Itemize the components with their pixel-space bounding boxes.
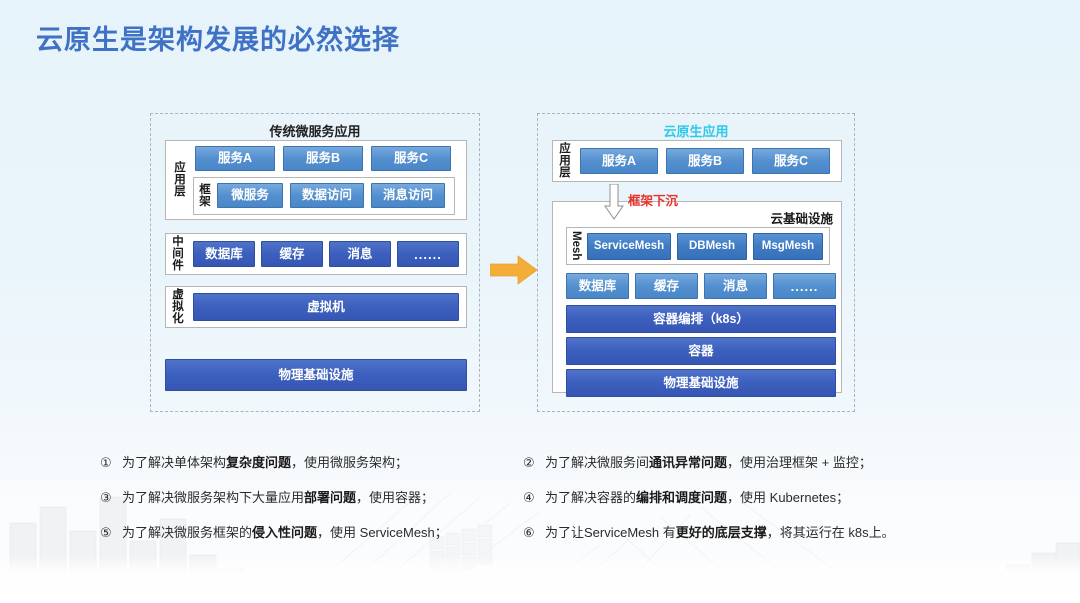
middleware-label: 中 间 件 bbox=[169, 238, 187, 272]
cloud-database-cell[interactable]: 数据库 bbox=[566, 273, 629, 299]
virtualization-label-char-2: 化 bbox=[172, 314, 184, 326]
virtual-machine-cell[interactable]: 虚拟机 bbox=[193, 293, 459, 321]
cloud-service-a-cell[interactable]: 服务A bbox=[580, 148, 658, 174]
right-panel-title: 云原生应用 bbox=[538, 121, 854, 140]
app-layer-label-char-2: 层 bbox=[174, 187, 186, 199]
page-title: 云原生是架构发展的必然选择 bbox=[36, 18, 400, 57]
service-b-cell[interactable]: 服务B bbox=[283, 146, 363, 171]
bullet-number: ⑥ bbox=[523, 525, 545, 541]
message-cell[interactable]: 消息 bbox=[329, 241, 391, 267]
bullet-item: ① 为了解决单体架构复杂度问题，使用微服务架构； bbox=[100, 452, 530, 471]
bullet-text: 为了解决微服务架构下大量应用部署问题，使用容器； bbox=[122, 487, 434, 506]
bullet-number: ① bbox=[100, 455, 122, 471]
virtualization-group: 虚 拟 化 虚拟机 bbox=[165, 286, 467, 328]
servicemesh-cell[interactable]: ServiceMesh bbox=[587, 233, 671, 260]
framework-sink-note: 框架下沉 bbox=[628, 190, 678, 209]
cloud-cache-cell[interactable]: 缓存 bbox=[635, 273, 698, 299]
dbmesh-cell[interactable]: DBMesh bbox=[677, 233, 747, 260]
bullet-number: ⑤ bbox=[100, 525, 122, 541]
container-bar[interactable]: 容器 bbox=[566, 337, 836, 365]
bullets-left-column: ① 为了解决单体架构复杂度问题，使用微服务架构； ③ 为了解决微服务架构下大量应… bbox=[100, 452, 530, 557]
middleware-group: 中 间 件 数据库 缓存 消息 ...... bbox=[165, 233, 467, 275]
cloud-more-cell[interactable]: ...... bbox=[773, 273, 836, 299]
right-physical-infrastructure-bar[interactable]: 物理基础设施 bbox=[566, 369, 836, 397]
framework-label-char-1: 架 bbox=[199, 197, 211, 209]
database-cell[interactable]: 数据库 bbox=[193, 241, 255, 267]
left-panel-title: 传统微服务应用 bbox=[151, 121, 479, 140]
bullet-number: ② bbox=[523, 455, 545, 471]
bullet-text: 为了解决单体架构复杂度问题，使用微服务架构； bbox=[122, 452, 408, 471]
transition-arrow-icon bbox=[490, 254, 538, 286]
message-access-cell[interactable]: 消息访问 bbox=[371, 183, 445, 208]
cloud-app-layer-group: 应 用 层 服务A 服务B 服务C bbox=[552, 140, 842, 182]
data-access-cell[interactable]: 数据访问 bbox=[290, 183, 364, 208]
mesh-group: Mesh ServiceMesh DBMesh MsgMesh bbox=[566, 227, 830, 265]
cloud-infrastructure-label: 云基础设施 bbox=[770, 208, 833, 227]
msgmesh-cell[interactable]: MsgMesh bbox=[753, 233, 823, 260]
cloud-infrastructure-group: 云基础设施 Mesh ServiceMesh DBMesh MsgMesh 数据… bbox=[552, 201, 842, 393]
framework-sink-arrow-icon bbox=[604, 184, 624, 220]
bullet-text: 为了解决微服务间通讯异常问题，使用治理框架 + 监控； bbox=[545, 452, 872, 471]
slide-canvas: 云原生是架构发展的必然选择 传统微服务应用 应 用 层 服务A 服务B 服务C … bbox=[0, 0, 1080, 603]
bullet-item: ⑥ 为了让ServiceMesh 有更好的底层支撑，将其运行在 k8s上。 bbox=[523, 522, 973, 541]
cloud-app-layer-label-char-2: 层 bbox=[559, 168, 571, 180]
microservice-cell[interactable]: 微服务 bbox=[217, 183, 283, 208]
bullet-number: ③ bbox=[100, 490, 122, 506]
cloud-service-c-cell[interactable]: 服务C bbox=[752, 148, 830, 174]
container-orchestration-bar[interactable]: 容器编排（k8s） bbox=[566, 305, 836, 333]
left-physical-infrastructure-bar[interactable]: 物理基础设施 bbox=[165, 359, 467, 391]
bullet-text: 为了解决容器的编排和调度问题，使用 Kubernetes； bbox=[545, 487, 849, 506]
framework-label: 框 架 bbox=[197, 183, 213, 211]
cloud-native-panel: 云原生应用 应 用 层 服务A 服务B 服务C 云基础设施 Mesh Servi… bbox=[537, 113, 855, 412]
bullet-item: ② 为了解决微服务间通讯异常问题，使用治理框架 + 监控； bbox=[523, 452, 973, 471]
bullets-right-column: ② 为了解决微服务间通讯异常问题，使用治理框架 + 监控； ④ 为了解决容器的编… bbox=[523, 452, 973, 557]
more-cell[interactable]: ...... bbox=[397, 241, 459, 267]
cloud-service-b-cell[interactable]: 服务B bbox=[666, 148, 744, 174]
framework-group: 框 架 微服务 数据访问 消息访问 bbox=[193, 177, 455, 215]
bullet-item: ⑤ 为了解决微服务框架的侵入性问题，使用 ServiceMesh； bbox=[100, 522, 530, 541]
bullet-item: ④ 为了解决容器的编排和调度问题，使用 Kubernetes； bbox=[523, 487, 973, 506]
cloud-message-cell[interactable]: 消息 bbox=[704, 273, 767, 299]
cloud-app-layer-label: 应 用 层 bbox=[556, 145, 574, 179]
traditional-microservice-panel: 传统微服务应用 应 用 层 服务A 服务B 服务C 框 架 微服务 数据访问 消… bbox=[150, 113, 480, 412]
mesh-label: Mesh bbox=[569, 231, 583, 261]
bullet-text: 为了解决微服务框架的侵入性问题，使用 ServiceMesh； bbox=[122, 522, 448, 541]
service-c-cell[interactable]: 服务C bbox=[371, 146, 451, 171]
middleware-label-char-2: 件 bbox=[172, 261, 184, 273]
app-layer-label: 应 用 层 bbox=[170, 147, 190, 215]
bullet-number: ④ bbox=[523, 490, 545, 506]
service-a-cell[interactable]: 服务A bbox=[195, 146, 275, 171]
app-layer-group: 应 用 层 服务A 服务B 服务C 框 架 微服务 数据访问 消息访问 bbox=[165, 140, 467, 220]
cache-cell[interactable]: 缓存 bbox=[261, 241, 323, 267]
bullet-text: 为了让ServiceMesh 有更好的底层支撑，将其运行在 k8s上。 bbox=[545, 522, 895, 541]
virtualization-label: 虚 拟 化 bbox=[169, 291, 187, 325]
bullet-item: ③ 为了解决微服务架构下大量应用部署问题，使用容器； bbox=[100, 487, 530, 506]
